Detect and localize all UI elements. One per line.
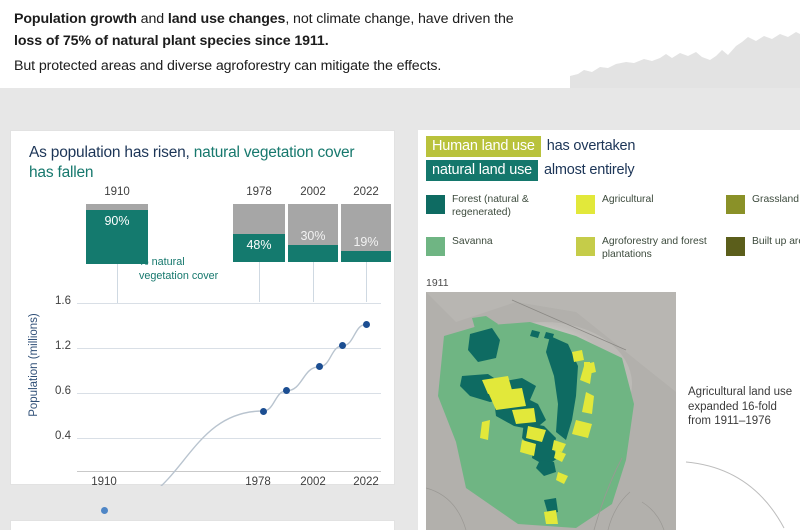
header-banner: Population growth and land use changes, …: [0, 0, 800, 88]
headline-rest: , not climate change, have driven the: [285, 11, 513, 27]
population-line-chart: Population (millions) 1.61.20.60.4191019…: [11, 281, 396, 486]
legend-swatch: [576, 237, 595, 256]
legend-label: Agricultural: [602, 194, 707, 207]
legend-label: Built up areas: [752, 236, 800, 249]
card-title: As population has risen, natural vegetat…: [29, 143, 379, 183]
headline-line2: loss of 75% of natural plant species sin…: [14, 30, 674, 52]
natural-land-use-row: natural land usealmost entirely: [426, 160, 634, 181]
data-point[interactable]: [316, 363, 323, 370]
legend-swatch: [726, 195, 745, 214]
legend-swatch: [576, 195, 595, 214]
human-land-use-row: Human land usehas overtaken: [426, 136, 635, 157]
data-point[interactable]: [101, 507, 108, 514]
bar-year-label: 1978: [233, 186, 285, 198]
bar-track: 19%: [341, 204, 391, 262]
bar-track: 30%: [288, 204, 338, 262]
land-use-panel: Human land usehas overtaken natural land…: [418, 130, 800, 530]
tag-human-after: has overtaken: [547, 138, 636, 154]
legend-label: Forest (natural & regenerated): [452, 194, 557, 219]
tag-natural-land-use: natural land use: [426, 160, 538, 181]
bar-value-label: 19%: [341, 235, 391, 249]
bar-track: 48%: [233, 204, 285, 262]
population-trend-line: [11, 281, 396, 486]
population-vegetation-card: As population has risen, natural vegetat…: [10, 130, 395, 485]
map-year-label: 1911: [426, 277, 449, 289]
headline-bold-population: Population growth: [14, 11, 137, 27]
bar-value-label: 30%: [288, 229, 338, 243]
headline-text: Population growth and land use changes, …: [14, 8, 674, 77]
vegetation-annotation: % natural vegetation cover: [139, 256, 235, 283]
land-use-map-1911[interactable]: [426, 292, 676, 530]
legend-label: Grassland: [752, 194, 800, 207]
data-point[interactable]: [260, 408, 267, 415]
bar-year-label: 2002: [288, 186, 338, 198]
legend-swatch: [426, 195, 445, 214]
bar-fill-natural-vegetation: [341, 251, 391, 262]
caption-leader-line: [680, 460, 800, 530]
page-root: Population growth and land use changes, …: [0, 0, 800, 530]
legend-swatch: [726, 237, 745, 256]
next-card-peek: [10, 520, 395, 530]
map-caption: Agricultural land use expanded 16-fold f…: [688, 385, 793, 429]
bar-value-label: 48%: [233, 238, 285, 252]
bar-year-label: 2022: [341, 186, 391, 198]
bar-fill-natural-vegetation: [288, 245, 338, 262]
legend-label: Savanna: [452, 236, 557, 249]
bar-year-label: 1910: [86, 186, 148, 198]
headline-line3: But protected areas and diverse agrofore…: [14, 55, 674, 77]
legend-label: Agroforestry and forest plantations: [602, 236, 707, 261]
headline-bold-landuse: land use changes: [168, 11, 285, 27]
tag-human-land-use: Human land use: [426, 136, 541, 157]
data-point[interactable]: [363, 321, 370, 328]
headline-mid: and: [137, 11, 168, 27]
map-graphic: [426, 292, 676, 530]
bar-value-label: 90%: [86, 214, 148, 228]
tag-natural-after: almost entirely: [544, 162, 634, 178]
bar-track: 90%: [86, 204, 148, 264]
legend-swatch: [426, 237, 445, 256]
card-title-dark: As population has risen,: [29, 144, 194, 161]
